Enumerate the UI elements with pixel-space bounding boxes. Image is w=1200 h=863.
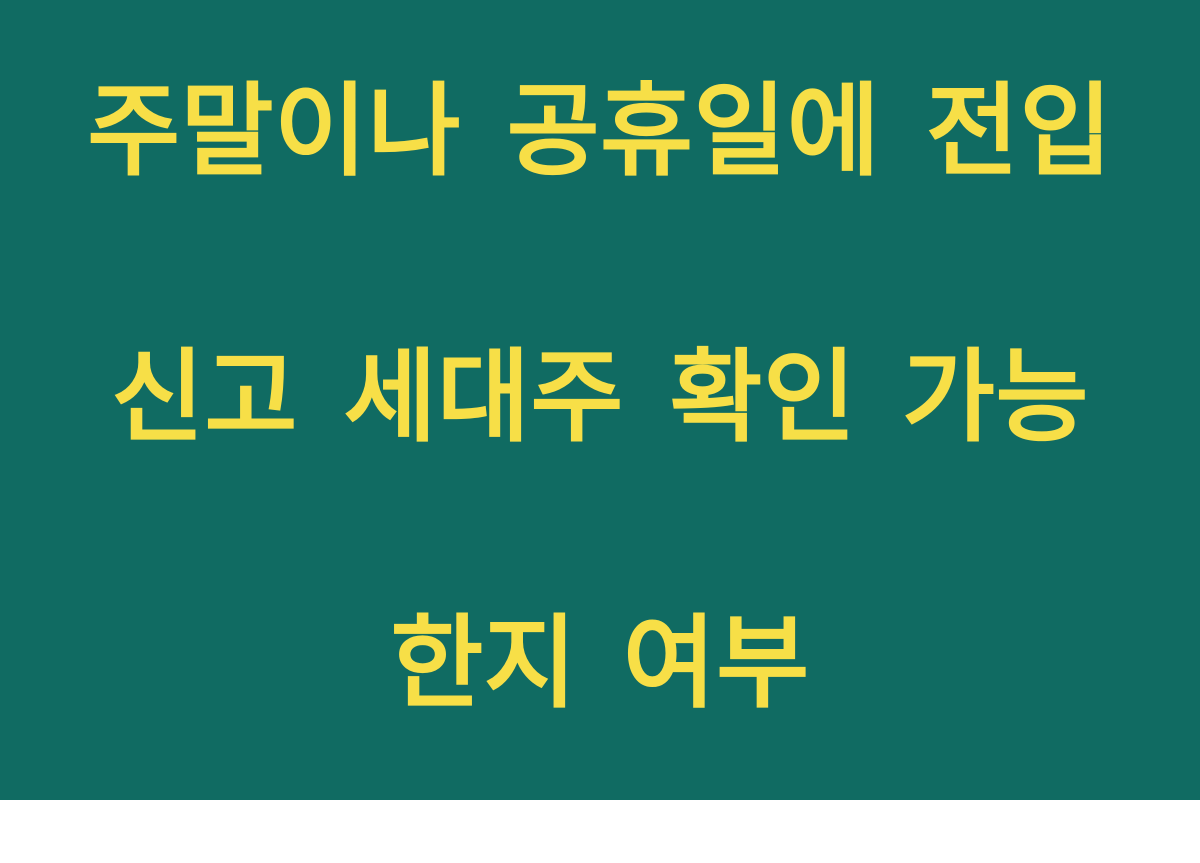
headline-line-2: 신고 세대주 확인 가능 (50, 331, 1150, 464)
headline-line-1: 주말이나 공휴일에 전입 (50, 65, 1150, 198)
page-title: 주말이나 공휴일에 전입 신고 세대주 확인 가능 한지 여부 (50, 0, 1150, 863)
banner-canvas: 주말이나 공휴일에 전입 신고 세대주 확인 가능 한지 여부 (0, 0, 1200, 800)
headline-line-3: 한지 여부 (50, 597, 1150, 730)
